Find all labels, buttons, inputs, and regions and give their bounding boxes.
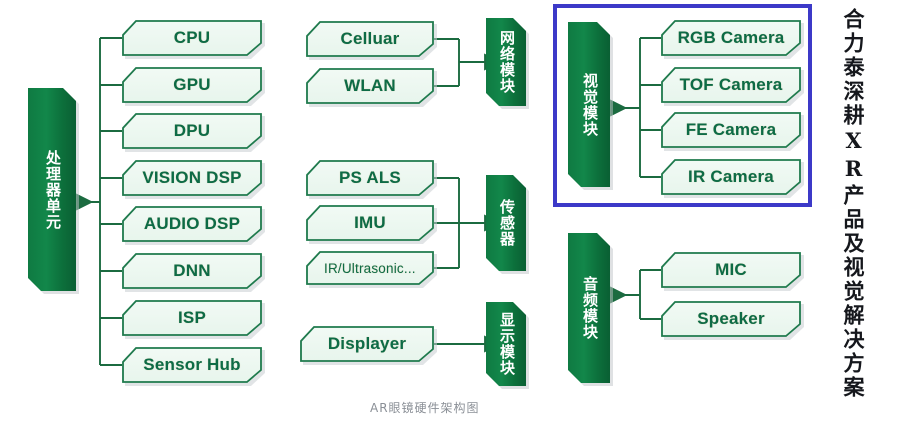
leaf-dpu-label: DPU [174,121,211,141]
leaf-speaker-label: Speaker [697,309,765,329]
leaf-wlan[interactable]: WLAN [306,68,434,104]
leaf-displayer-label: Displayer [328,334,406,354]
leaf-sensor-hub[interactable]: Sensor Hub [122,347,262,383]
leaf-isp-label: ISP [178,308,206,328]
leaf-cpu-label: CPU [174,28,211,48]
leaf-ir-camera[interactable]: IR Camera [661,159,801,195]
module-display[interactable]: 显示模块 [486,302,526,386]
leaf-imu[interactable]: IMU [306,205,434,241]
side-caption: 合力泰深耕XR产品及视觉解决方案 [843,8,864,400]
leaf-displayer[interactable]: Displayer [300,326,434,362]
leaf-mic[interactable]: MIC [661,252,801,288]
leaf-vision-dsp-label: VISION DSP [142,168,241,188]
leaf-sensor-hub-label: Sensor Hub [143,355,240,375]
leaf-dpu[interactable]: DPU [122,113,262,149]
module-sensor-label: 传感器 [498,199,514,247]
leaf-tof-camera-label: TOF Camera [680,75,783,95]
leaf-cpu[interactable]: CPU [122,20,262,56]
leaf-gpu[interactable]: GPU [122,67,262,103]
leaf-dnn[interactable]: DNN [122,253,262,289]
leaf-vision-dsp[interactable]: VISION DSP [122,160,262,196]
leaf-audio-dsp-label: AUDIO DSP [144,214,240,234]
module-audio[interactable]: 音频模块 [568,233,610,383]
leaf-celluar-label: Celluar [340,29,399,49]
leaf-ir-camera-label: IR Camera [688,167,774,187]
module-audio-label: 音频模块 [581,276,597,340]
leaf-ir-ultrasonic-label: IR/Ultrasonic... [324,261,416,276]
module-processor-label: 处理器单元 [44,150,60,230]
leaf-ps-als-label: PS ALS [339,168,401,188]
module-processor[interactable]: 处理器单元 [28,88,76,291]
leaf-ps-als[interactable]: PS ALS [306,160,434,196]
module-vision[interactable]: 视觉模块 [568,22,610,187]
module-display-label: 显示模块 [498,312,514,376]
leaf-gpu-label: GPU [173,75,210,95]
module-vision-label: 视觉模块 [581,73,597,137]
module-network[interactable]: 网络模块 [486,18,526,106]
leaf-dnn-label: DNN [173,261,210,281]
module-network-label: 网络模块 [498,30,514,94]
leaf-tof-camera[interactable]: TOF Camera [661,67,801,103]
diagram-caption: AR眼镜硬件架构图 [370,399,480,416]
leaf-ir-ultrasonic[interactable]: IR/Ultrasonic... [306,251,434,285]
module-sensor[interactable]: 传感器 [486,175,526,271]
leaf-imu-label: IMU [354,213,386,233]
leaf-isp[interactable]: ISP [122,300,262,336]
leaf-rgb-camera-label: RGB Camera [678,28,785,48]
leaf-speaker[interactable]: Speaker [661,301,801,337]
leaf-wlan-label: WLAN [344,76,396,96]
leaf-mic-label: MIC [715,260,747,280]
leaf-rgb-camera[interactable]: RGB Camera [661,20,801,56]
leaf-fe-camera[interactable]: FE Camera [661,112,801,148]
leaf-fe-camera-label: FE Camera [686,120,777,140]
diagram-canvas: 处理器单元 CPU GPU DPU VISION DSP AUDIO DSP D… [0,0,900,423]
leaf-celluar[interactable]: Celluar [306,21,434,57]
leaf-audio-dsp[interactable]: AUDIO DSP [122,206,262,242]
